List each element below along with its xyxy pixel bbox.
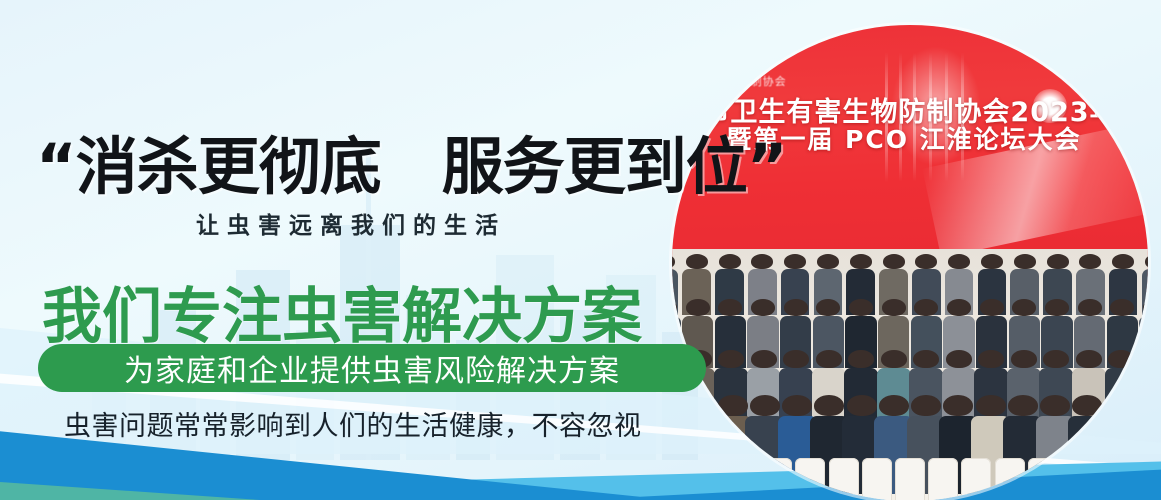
promo-banner: 防制协会 市卫生有害生物防制协会2023年会 暨第一届 PCO 江淮论坛大会 xyxy=(0,0,1161,500)
group-photo-people xyxy=(672,249,1148,500)
association-mark-text: 防制协会 xyxy=(739,73,787,89)
banner-green-title: 我们专注虫害解决方案 xyxy=(42,268,642,355)
group-photo-circle: 防制协会 市卫生有害生物防制协会2023年会 暨第一届 PCO 江淮论坛大会 xyxy=(672,25,1148,500)
service-highlight-pill: 为家庭和企业提供虫害风险解决方案 xyxy=(38,344,706,392)
service-highlight-pill-label: 为家庭和企业提供虫害风险解决方案 xyxy=(124,346,620,390)
banner-headline: “消杀更彻底 服务更到位” xyxy=(36,116,787,206)
photo-chair-row xyxy=(672,458,1148,500)
banner-subtitle: 让虫害远离我们的生活 xyxy=(196,206,506,240)
banner-tagline: 虫害问题常常影响到人们的生活健康，不容忽视 xyxy=(64,404,642,443)
